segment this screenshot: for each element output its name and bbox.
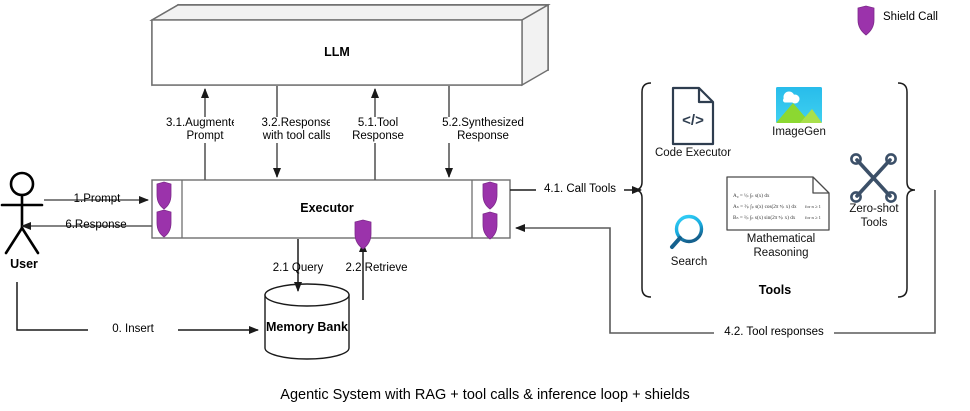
user-stick-figure — [2, 173, 42, 253]
tool-label-zero-shot-tools: Zero-shot Tools — [836, 203, 912, 230]
math-document-icon: A₀ = ¹⁄ₚ ∫ₚ s(x) dx Aₙ = ²⁄ₚ ∫ₚ s(x) cos… — [727, 177, 829, 230]
tools-left-brace — [634, 83, 651, 297]
svg-text:A₀ = ¹⁄ₚ ∫ₚ s(x) dx: A₀ = ¹⁄ₚ ∫ₚ s(x) dx — [733, 192, 770, 199]
svg-text:</>: </> — [682, 112, 704, 129]
user-label: User — [0, 257, 48, 271]
memory-bank-label: Memory Bank — [242, 320, 372, 334]
edge-label-insert: 0. Insert — [88, 323, 178, 336]
shield-icon-executor-memory — [355, 220, 371, 249]
tool-label-math-reasoning: Mathematical Reasoning — [733, 233, 829, 260]
edge-label-response: 6.Response — [46, 219, 146, 232]
crossed-wrenches-icon — [851, 154, 895, 201]
diagram-vector-layer: </> A₀ = ¹⁄ₚ ∫ₚ s(x) dx Aₙ = ²⁄ₚ ∫ₚ — [0, 0, 970, 411]
tool-label-imagegen: ImageGen — [759, 126, 839, 140]
svg-text:Bₙ = ²⁄ₚ ∫ₚ s(x) sin(2π ⁿ⁄ₚ x): Bₙ = ²⁄ₚ ∫ₚ s(x) sin(2π ⁿ⁄ₚ x) dx — [733, 214, 796, 221]
edge-label-tool-responses: 4.2. Tool responses — [714, 326, 834, 339]
tools-right-brace — [898, 83, 915, 297]
image-picture-icon — [776, 87, 822, 123]
shield-icon-legend — [858, 6, 874, 35]
legend-shield-label: Shield Call — [883, 11, 938, 23]
executor-label: Executor — [182, 201, 472, 215]
code-document-icon: </> — [673, 88, 713, 144]
edge-label-call-tools: 4.1. Call Tools — [536, 183, 624, 196]
edge-label-synthesized-response: 5.2.Synthesized Response — [420, 117, 546, 143]
diagram-canvas: </> A₀ = ¹⁄ₚ ∫ₚ s(x) dx Aₙ = ²⁄ₚ ∫ₚ — [0, 0, 970, 411]
tools-group-label: Tools — [715, 283, 835, 297]
edge-label-query: 2.1 Query — [258, 262, 338, 275]
svg-text:for n ≥ 1: for n ≥ 1 — [805, 204, 822, 209]
llm-label: LLM — [152, 45, 522, 59]
diagram-caption: Agentic System with RAG + tool calls & i… — [0, 387, 970, 403]
magnifier-icon — [672, 217, 702, 248]
tool-label-search: Search — [654, 256, 724, 270]
tool-label-code-executor: Code Executor — [643, 147, 743, 161]
edge-label-retrieve: 2.2 Retrieve — [334, 262, 419, 275]
svg-text:Aₙ = ²⁄ₚ ∫ₚ s(x) cos(2π ⁿ⁄ₚ x): Aₙ = ²⁄ₚ ∫ₚ s(x) cos(2π ⁿ⁄ₚ x) dx — [733, 203, 797, 210]
edge-label-prompt: 1.Prompt — [52, 193, 142, 206]
svg-text:for n ≥ 1: for n ≥ 1 — [805, 215, 822, 220]
edge-label-tool-response: 5.1.Tool Response — [330, 117, 426, 143]
